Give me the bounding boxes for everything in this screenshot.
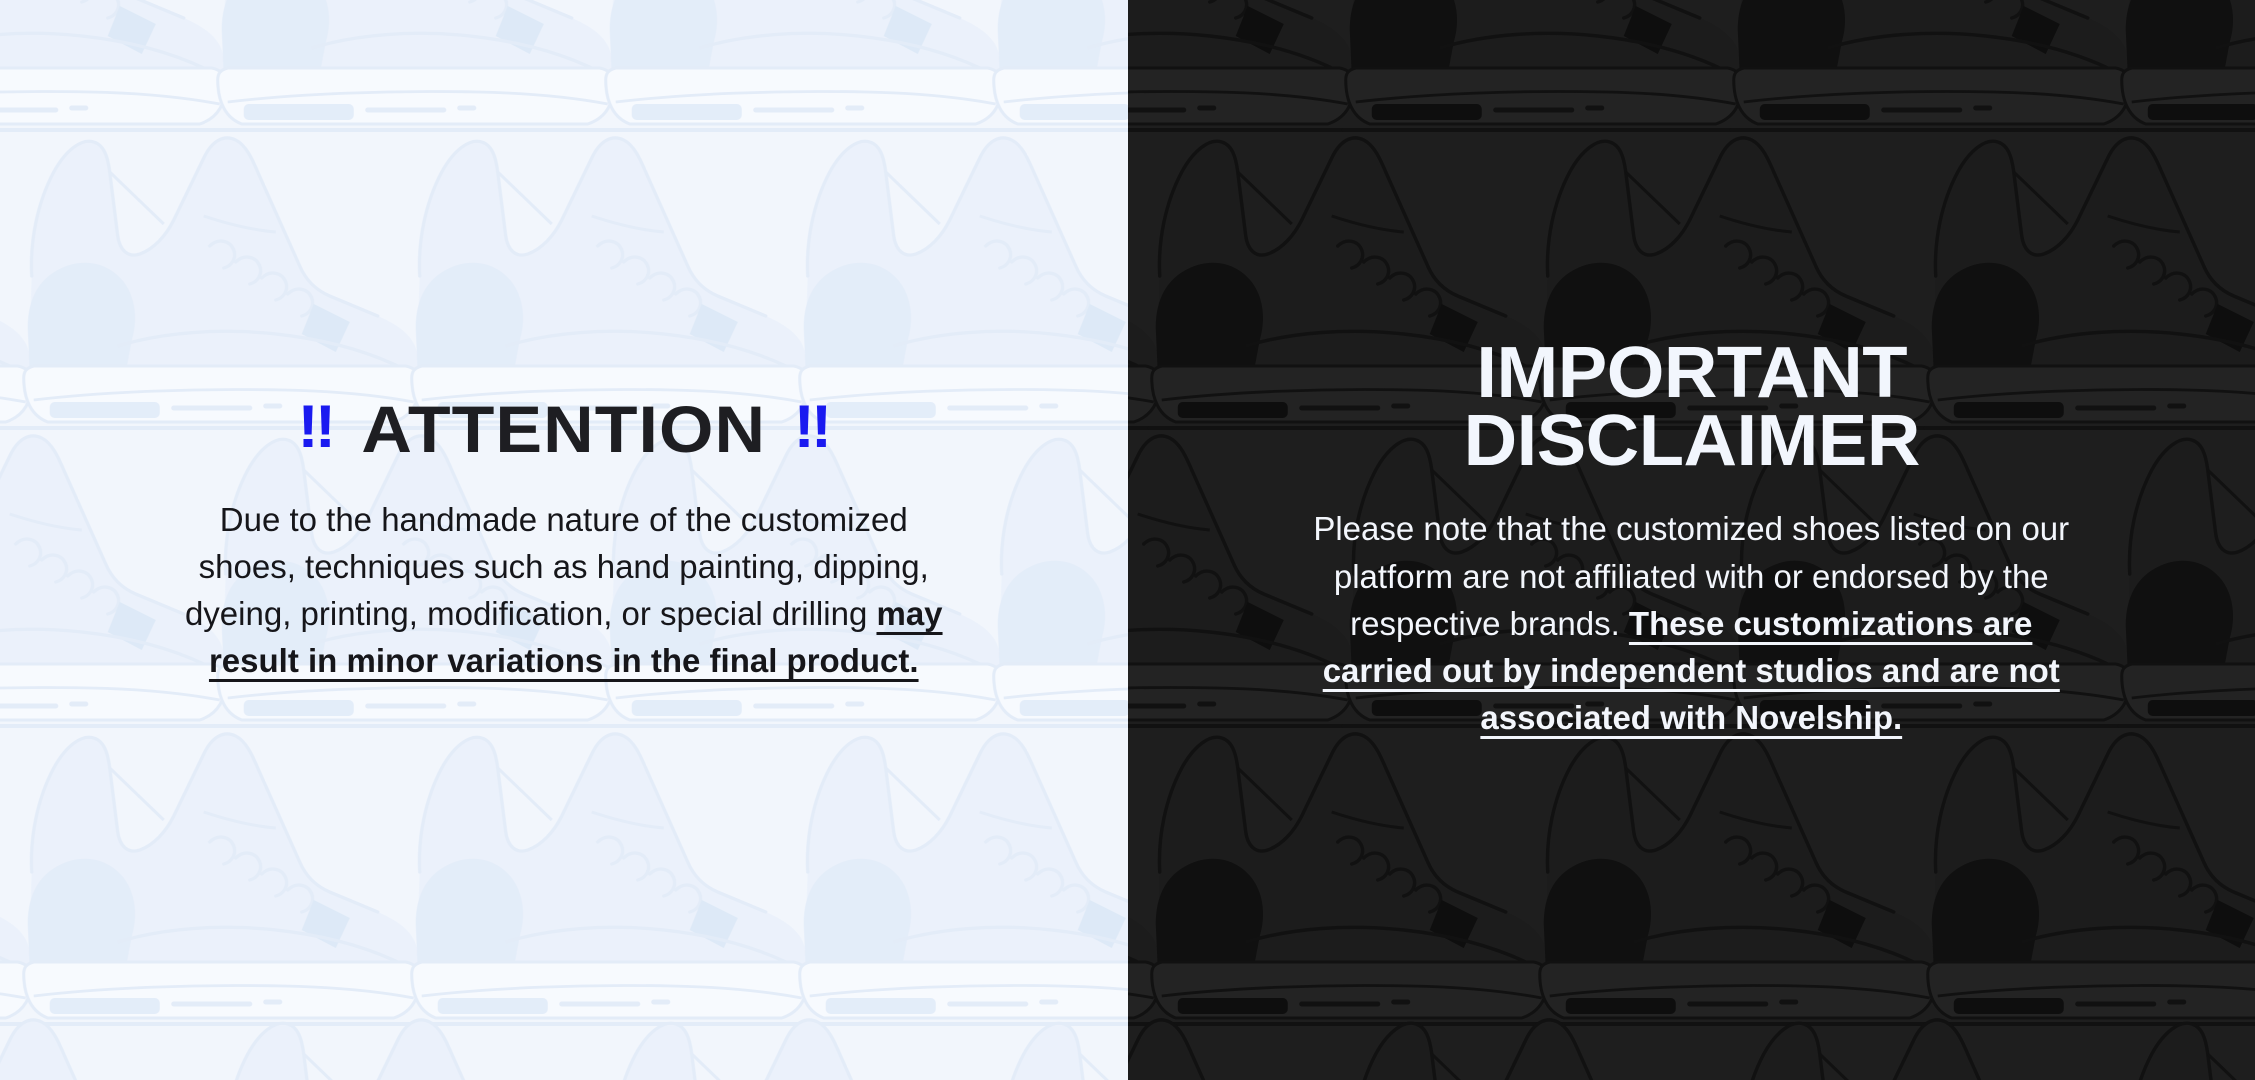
attention-panel: ‼ ATTENTION ‼ Due to the handmade nature… bbox=[0, 0, 1128, 1080]
attention-heading: ‼ ATTENTION ‼ bbox=[26, 396, 1102, 462]
attention-body: Due to the handmade nature of the custom… bbox=[169, 496, 959, 685]
split-notice-board: ‼ ATTENTION ‼ Due to the handmade nature… bbox=[0, 0, 2255, 1080]
disclaimer-content: IMPORTANT DISCLAIMER Please note that th… bbox=[1128, 339, 2255, 742]
disclaimer-heading-line1: IMPORTANT bbox=[1168, 339, 2214, 407]
disclaimer-heading-line2: DISCLAIMER bbox=[1168, 407, 2214, 475]
attention-body-normal: Due to the handmade nature of the custom… bbox=[185, 501, 929, 632]
disclaimer-heading: IMPORTANT DISCLAIMER bbox=[1168, 339, 2214, 476]
double-exclamation-icon-left: ‼ bbox=[298, 397, 334, 457]
double-exclamation-icon-right: ‼ bbox=[794, 397, 830, 457]
attention-content: ‼ ATTENTION ‼ Due to the handmade nature… bbox=[0, 396, 1128, 685]
disclaimer-body: Please note that the customized shoes li… bbox=[1291, 505, 2091, 741]
disclaimer-panel: IMPORTANT DISCLAIMER Please note that th… bbox=[1128, 0, 2255, 1080]
attention-heading-word: ATTENTION bbox=[361, 396, 766, 462]
